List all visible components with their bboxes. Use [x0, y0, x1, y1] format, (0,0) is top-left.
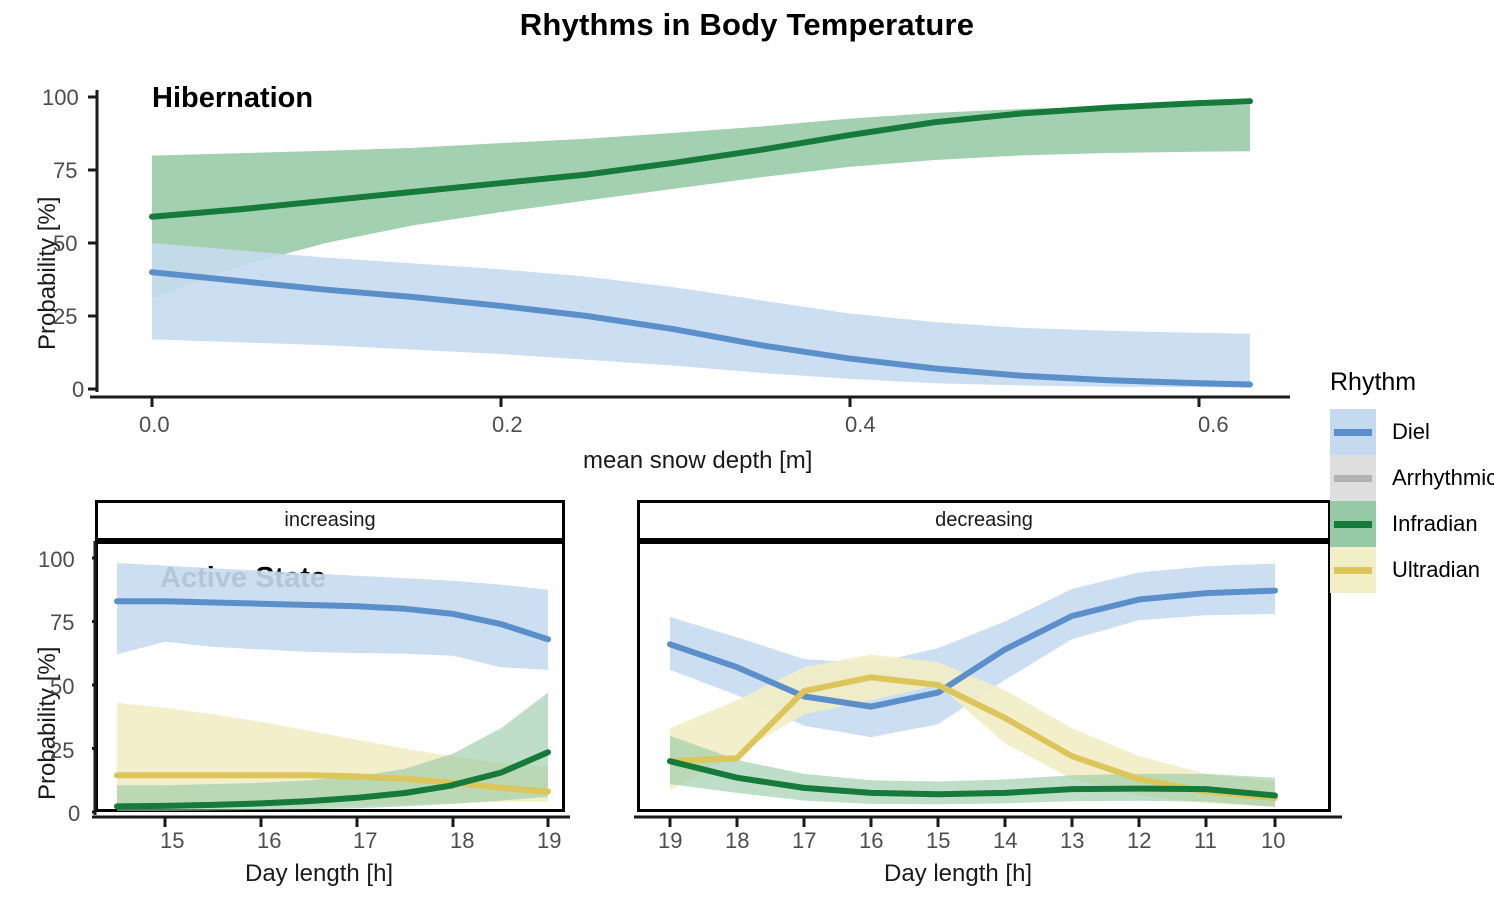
facet-strip-decreasing-label: decreasing [935, 509, 1033, 532]
legend-key-infradian [1330, 501, 1376, 547]
bl-y-tick-25: 25 [50, 738, 74, 764]
legend-item-ultradian[interactable]: Ultradian [1330, 547, 1480, 593]
bottom-left-plot [92, 541, 572, 831]
top-diel-band [152, 243, 1250, 388]
br-x-tick-11: 11 [1194, 828, 1217, 854]
bl-x-tick-15: 15 [160, 828, 184, 854]
facet-strip-increasing: increasing [95, 500, 565, 541]
legend-item-diel[interactable]: Diel [1330, 409, 1430, 455]
br-x-tick-19: 19 [658, 828, 682, 854]
legend-label-ultradian: Ultradian [1392, 557, 1480, 583]
facet-strip-increasing-label: increasing [284, 509, 375, 532]
legend-label-infradian: Infradian [1392, 511, 1478, 537]
legend-key-arrhythmic [1330, 455, 1376, 501]
legend-item-arrhythmic[interactable]: Arrhythmic [1330, 455, 1494, 501]
bl-y-tick-75: 75 [50, 610, 74, 636]
legend-item-infradian[interactable]: Infradian [1330, 501, 1478, 547]
br-x-tick-14: 14 [993, 828, 1017, 854]
br-x-tick-15: 15 [926, 828, 950, 854]
bottom-right-x-axis-title: Day length [h] [884, 860, 1032, 888]
bl-x-tick-19: 19 [537, 828, 561, 854]
bl-x-tick-17: 17 [353, 828, 377, 854]
top-panel-plot [20, 60, 1310, 480]
bl-x-tick-16: 16 [257, 828, 281, 854]
bl-y-tick-50: 50 [50, 674, 74, 700]
br-x-tick-10: 10 [1261, 828, 1285, 854]
bl-x-tick-18: 18 [450, 828, 474, 854]
legend-key-diel [1330, 409, 1376, 455]
legend-title: Rhythm [1330, 368, 1416, 397]
br-x-tick-18: 18 [725, 828, 749, 854]
bottom-left-x-axis-title: Day length [h] [245, 860, 393, 888]
br-x-tick-13: 13 [1060, 828, 1084, 854]
br-x-tick-12: 12 [1127, 828, 1151, 854]
bl-y-tick-100: 100 [38, 547, 75, 573]
page-title: Rhythms in Body Temperature [0, 7, 1494, 43]
figure-canvas: Rhythms in Body Temperature Probability … [0, 0, 1494, 902]
legend-label-diel: Diel [1392, 419, 1430, 445]
facet-strip-decreasing: decreasing [637, 500, 1331, 541]
br-x-tick-16: 16 [859, 828, 883, 854]
br-x-tick-17: 17 [792, 828, 816, 854]
legend-key-ultradian [1330, 547, 1376, 593]
bottom-right-plot [634, 541, 1344, 831]
legend-label-arrhythmic: Arrhythmic [1392, 465, 1494, 491]
bl-y-tick-0: 0 [68, 801, 80, 827]
bl-diel-band [117, 563, 548, 670]
bottom-left-y-axis-title: Probability [%] [34, 647, 62, 800]
